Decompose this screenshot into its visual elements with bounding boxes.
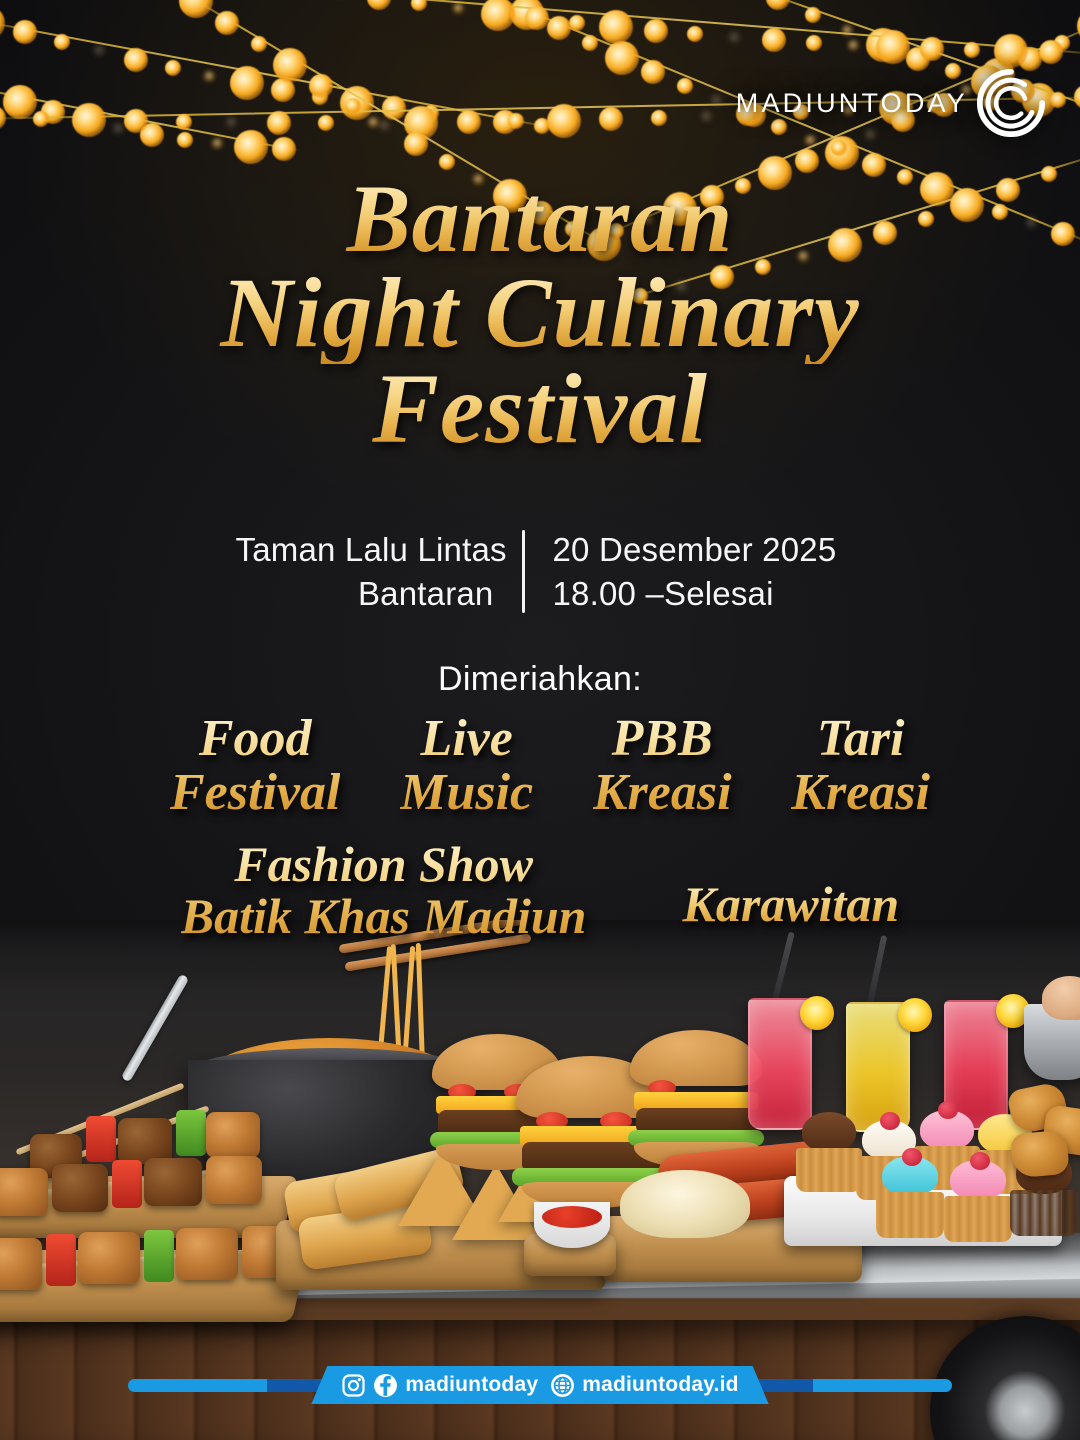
light-bulb	[230, 66, 264, 100]
light-bulb	[599, 107, 623, 131]
raspberry	[970, 1152, 990, 1170]
satay-meat	[206, 1156, 262, 1204]
raspberry	[938, 1101, 958, 1119]
event-date: 20 Desember 2025	[553, 528, 845, 572]
light-bulb	[599, 10, 633, 44]
fried-chicken-piece	[1010, 1130, 1070, 1179]
raspberry	[880, 1112, 900, 1130]
social-handle-label: madiuntoday	[405, 1373, 538, 1397]
light-bulb	[569, 15, 585, 31]
bell-pepper-red	[86, 1116, 116, 1162]
lineup-heading: Dimeriahkan:	[0, 660, 1080, 699]
shredded-slaw	[620, 1170, 750, 1238]
title-line-2: Night Culinary	[0, 262, 1080, 364]
light-bulb	[1074, 85, 1080, 109]
cupcake-liner	[876, 1192, 944, 1238]
light-bulb	[547, 16, 571, 40]
event-info-row: Taman Lalu Lintas Bantaran 20 Desember 2…	[0, 528, 1080, 615]
light-bulb	[729, 32, 740, 43]
light-bulb	[677, 78, 693, 94]
lineup-row-2: Fashion Show Batik Khas Madiun Karawitan	[0, 838, 1080, 942]
light-bulb	[318, 115, 334, 131]
instagram-icon[interactable]	[341, 1373, 366, 1398]
globe-icon[interactable]	[550, 1373, 575, 1398]
bell-pepper-red	[46, 1234, 76, 1286]
social-website-label: madiuntoday.id	[582, 1373, 738, 1397]
social-handles-panel: madiuntoday madiuntoday.id	[311, 1366, 768, 1404]
light-bulb	[453, 3, 464, 14]
social-bar: madiuntoday madiuntoday.id	[0, 1366, 1080, 1404]
light-bulb	[368, 117, 379, 128]
light-bulb	[0, 6, 5, 40]
lineup-item-line-1: Fashion Show	[181, 838, 587, 890]
social-group-website[interactable]: madiuntoday.id	[550, 1373, 738, 1398]
sauce	[542, 1206, 602, 1228]
light-bulb	[273, 48, 307, 82]
light-bulb	[582, 35, 598, 51]
spoon-icon	[121, 974, 190, 1083]
light-bulb	[379, 120, 390, 131]
light-bulb	[165, 60, 181, 76]
lineup-item-food-festival: Food Festival	[170, 712, 340, 820]
light-bulb	[508, 113, 524, 129]
light-bulb	[964, 42, 980, 58]
light-bulb	[651, 110, 667, 126]
light-bulb	[272, 137, 296, 161]
raspberry	[902, 1148, 922, 1166]
facebook-icon[interactable]	[373, 1373, 398, 1398]
light-bulb	[176, 114, 192, 130]
lineup-item-line-1: Food	[170, 712, 340, 766]
lineup-item-line-2: Kreasi	[593, 766, 732, 820]
light-bulb	[94, 45, 105, 56]
lineup-item-pbb-kreasi: PBB Kreasi	[593, 712, 732, 820]
satay-meat	[176, 1228, 238, 1280]
bell-pepper-green	[176, 1110, 206, 1156]
light-bulb	[234, 130, 268, 164]
lineup-row-1: Food Festival Live Music PBB Kreasi Tari…	[170, 712, 930, 820]
satay-meat	[52, 1164, 108, 1212]
light-bulb	[124, 48, 148, 72]
lemon-slice	[800, 996, 834, 1030]
bell-pepper-green	[144, 1230, 174, 1282]
lineup-item-line-2: Batik Khas Madiun	[181, 890, 587, 942]
light-bulb	[215, 11, 239, 35]
light-bulb	[309, 74, 333, 98]
light-bulb	[204, 71, 215, 82]
light-bulb	[271, 78, 295, 102]
cupcake-liner	[944, 1196, 1012, 1242]
social-group-instagram-facebook[interactable]: madiuntoday	[341, 1373, 538, 1398]
food-spread-photo	[0, 920, 1080, 1440]
light-bulb	[547, 104, 581, 138]
light-bulb	[404, 132, 428, 156]
poster-canvas: MADIUNTODAY Bantaran Night Culinary Fest…	[0, 0, 1080, 1440]
lineup-item-line-2: Kreasi	[791, 766, 930, 820]
light-bulb	[3, 85, 37, 119]
venue-block: Taman Lalu Lintas Bantaran	[236, 528, 522, 615]
venue-line-1: Taman Lalu Lintas	[236, 528, 494, 572]
frosting	[802, 1112, 856, 1152]
light-bulb	[687, 26, 703, 42]
light-bulb	[177, 132, 193, 148]
brand-logo: MADIUNTODAY	[736, 62, 1052, 144]
light-bulb	[848, 40, 859, 51]
light-bulb	[641, 60, 665, 84]
lineup-item-fashion-show: Fashion Show Batik Khas Madiun	[181, 838, 587, 942]
light-bulb	[212, 138, 223, 149]
light-bulb	[525, 6, 549, 30]
light-bulb	[457, 110, 481, 134]
stripe-segment	[813, 1379, 952, 1392]
lineup-item-karawitan: Karawitan	[682, 878, 899, 930]
lemon-slice	[898, 998, 932, 1032]
title-line-3: Festival	[0, 358, 1080, 460]
light-bulb	[411, 0, 427, 11]
light-bulb	[766, 0, 790, 10]
light-bulb	[345, 98, 361, 114]
lineup-item-line-1: Live	[400, 712, 533, 766]
cupcake-liner	[796, 1148, 862, 1192]
light-bulb	[762, 28, 786, 52]
light-bulb	[605, 41, 639, 75]
straw-icon	[866, 935, 887, 1009]
lineup-item-line-1: PBB	[593, 712, 732, 766]
light-bulb	[267, 111, 291, 135]
light-bulb	[876, 30, 910, 64]
lineup-item-live-music: Live Music	[400, 712, 533, 820]
event-time: 18.00 –Selesai	[553, 572, 845, 616]
satay-meat	[206, 1112, 260, 1158]
light-bulb	[382, 96, 406, 120]
light-bulb	[33, 111, 49, 127]
light-bulb	[1039, 40, 1063, 64]
light-bulb	[113, 123, 124, 134]
lineup-item-tari-kreasi: Tari Kreasi	[791, 712, 930, 820]
poster-title: Bantaran Night Culinary Festival	[0, 170, 1080, 460]
swirl-arc-mark-icon	[970, 62, 1052, 144]
light-bulb	[13, 20, 37, 44]
satay-meat	[0, 1168, 48, 1216]
light-bulb	[72, 103, 106, 137]
light-bulb	[54, 34, 70, 50]
datetime-block: 20 Desember 2025 18.00 –Selesai	[525, 528, 845, 615]
stripe-segment	[128, 1379, 267, 1392]
light-bulb	[481, 0, 515, 31]
light-bulb	[701, 111, 712, 122]
satay-meat	[78, 1232, 140, 1284]
brand-logo-text: MADIUNTODAY	[736, 88, 968, 119]
lineup-item-line-1: Tari	[791, 712, 930, 766]
light-bulb	[920, 37, 944, 61]
light-bulb	[644, 19, 668, 43]
satay-meat	[144, 1158, 202, 1206]
title-line-1: Bantaran	[0, 170, 1080, 268]
light-bulb	[367, 0, 391, 10]
bell-pepper-red	[112, 1160, 142, 1208]
hand	[1042, 976, 1080, 1020]
venue-line-2: Bantaran	[236, 572, 494, 616]
lineup-item-line-2: Festival	[170, 766, 340, 820]
bun-top	[630, 1030, 762, 1086]
cupcake-liner	[1010, 1190, 1078, 1236]
lineup-item-line-2: Music	[400, 766, 533, 820]
light-bulb	[805, 7, 821, 23]
light-bulb	[251, 36, 267, 52]
satay-meat	[0, 1238, 42, 1290]
light-bulb	[806, 35, 822, 51]
light-bulb	[226, 117, 237, 128]
light-bulb	[179, 0, 213, 18]
light-bulb	[711, 95, 722, 106]
